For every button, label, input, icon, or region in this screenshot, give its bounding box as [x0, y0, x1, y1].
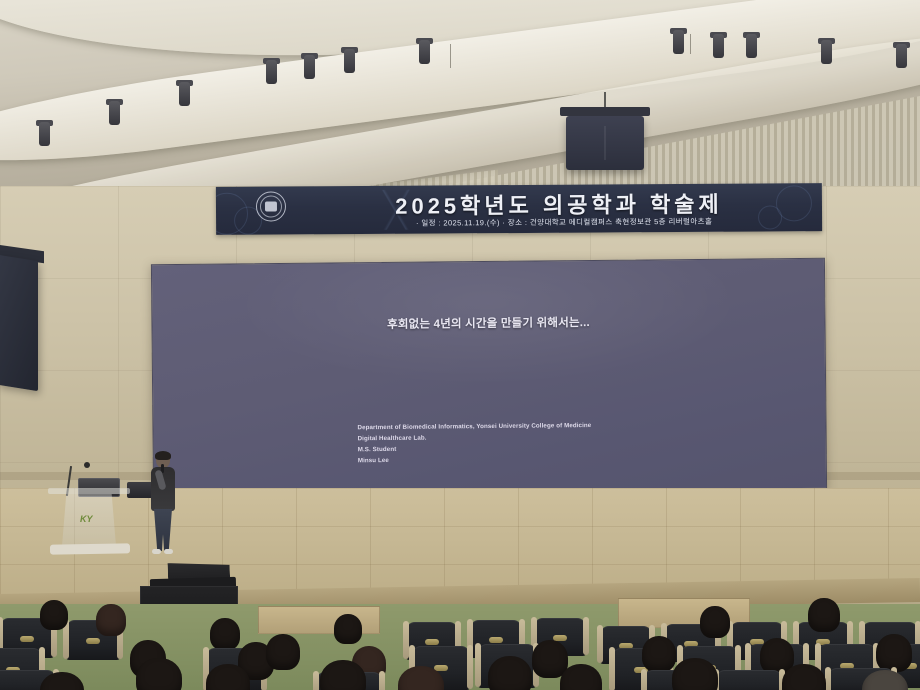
- audience-head: [700, 606, 730, 638]
- audience-head: [642, 636, 676, 672]
- microphone-icon: [84, 462, 90, 468]
- audience-head: [488, 656, 532, 690]
- stage-light: [343, 45, 356, 75]
- projection-screen: 후회없는 4년의 시간을 만들기 위해서는... Department of B…: [151, 258, 827, 495]
- rigging-wire: [450, 44, 451, 68]
- stage-light: [712, 30, 725, 60]
- presenter: [150, 452, 176, 558]
- audience-head: [334, 614, 362, 644]
- rigging-wire: [690, 34, 691, 54]
- audience-head: [40, 600, 68, 630]
- banner-subtitle: · 일정 : 2025.11.19.(수) · 장소 : 건양대학교 메디컬캠퍼…: [324, 215, 804, 229]
- podium: KY: [52, 488, 126, 554]
- affiliation-line: Department of Biomedical Informatics, Yo…: [357, 420, 591, 433]
- podium-base: [50, 543, 130, 554]
- audience-head: [210, 618, 240, 650]
- auditorium-seat[interactable]: [716, 670, 782, 690]
- line-array-speaker-left: [0, 255, 38, 391]
- stage-light: [178, 78, 191, 108]
- presenter-hair: [155, 451, 171, 460]
- audience-head: [136, 658, 182, 690]
- event-banner: 2025학년도 의공학과 학술제 · 일정 : 2025.11.19.(수) ·…: [216, 183, 822, 235]
- stage-light: [745, 30, 758, 60]
- stage-light: [265, 56, 278, 86]
- university-crest-icon: [256, 191, 286, 221]
- stage-light: [303, 51, 316, 81]
- audience-head: [96, 604, 126, 636]
- ceiling-speaker: [566, 116, 644, 170]
- podium-logo: KY: [80, 514, 93, 524]
- stage-light: [418, 36, 431, 66]
- stage-light: [820, 36, 833, 66]
- auditorium-scene: 2025학년도 의공학과 학술제 · 일정 : 2025.11.19.(수) ·…: [0, 0, 920, 690]
- stage-light: [38, 118, 51, 148]
- ceiling: [0, 0, 920, 200]
- slide-affiliation-block: Department of Biomedical Informatics, Yo…: [357, 420, 591, 466]
- stage-light: [672, 26, 685, 56]
- stage-light: [108, 97, 121, 127]
- audience-head: [672, 658, 718, 690]
- audience-head: [808, 598, 840, 632]
- presenter-shoe: [152, 549, 161, 554]
- audience-head: [266, 634, 300, 670]
- affiliation-line: Minsu Lee: [358, 453, 592, 466]
- podium-top: [48, 488, 130, 494]
- presenter-shoe: [164, 549, 173, 554]
- stage-light: [895, 40, 908, 70]
- presenter-legs: [154, 509, 172, 551]
